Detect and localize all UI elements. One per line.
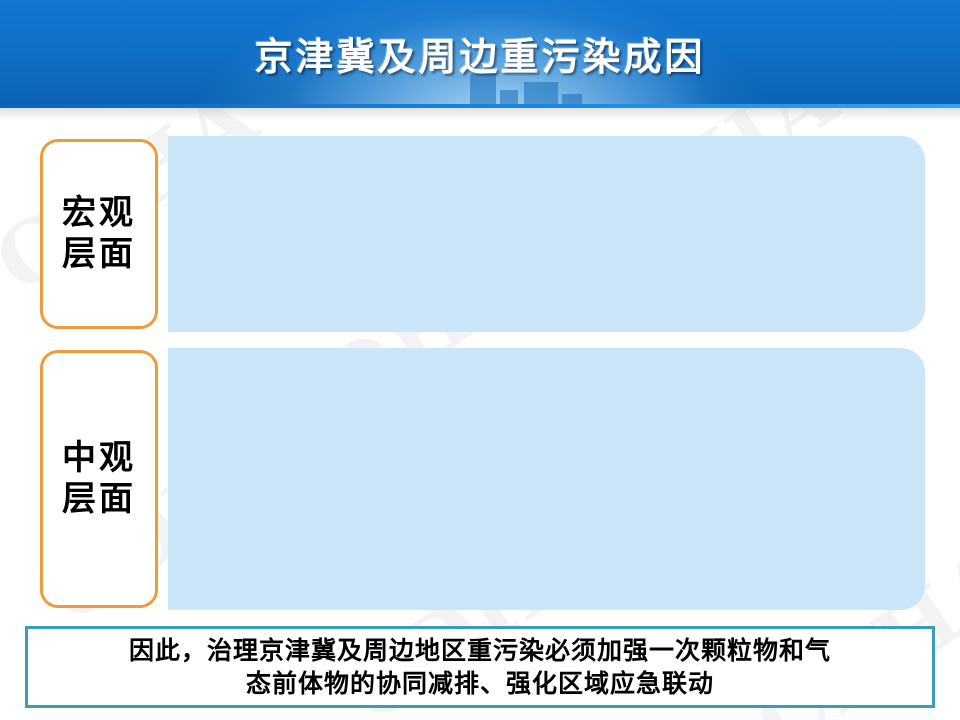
meso-content-panel: [168, 348, 925, 610]
tag-box-meso-label: 中观 层面: [62, 438, 136, 521]
macro-content-panel: [168, 136, 925, 332]
conclusion-box: 因此，治理京津冀及周边地区重污染必须加强一次颗粒物和气 态前体物的协同减排、强化…: [25, 626, 935, 708]
slide-header-banner: 京津冀及周边重污染成因: [0, 0, 960, 104]
tag-box-meso: 中观 层面: [40, 350, 158, 608]
header-silhouette: [500, 90, 518, 104]
header-silhouette: [524, 82, 558, 104]
header-silhouette: [562, 94, 582, 104]
tag-box-macro: 宏观 层面: [40, 139, 158, 329]
page-title: 京津冀及周边重污染成因: [0, 26, 960, 81]
header-drop-shadow: [0, 108, 960, 120]
conclusion-line-1: 因此，治理京津冀及周边地区重污染必须加强一次颗粒物和气: [129, 634, 831, 667]
tag-box-macro-label: 宏观 层面: [62, 193, 136, 276]
conclusion-line-2: 态前体物的协同减排、强化区域应急联动: [246, 667, 714, 700]
